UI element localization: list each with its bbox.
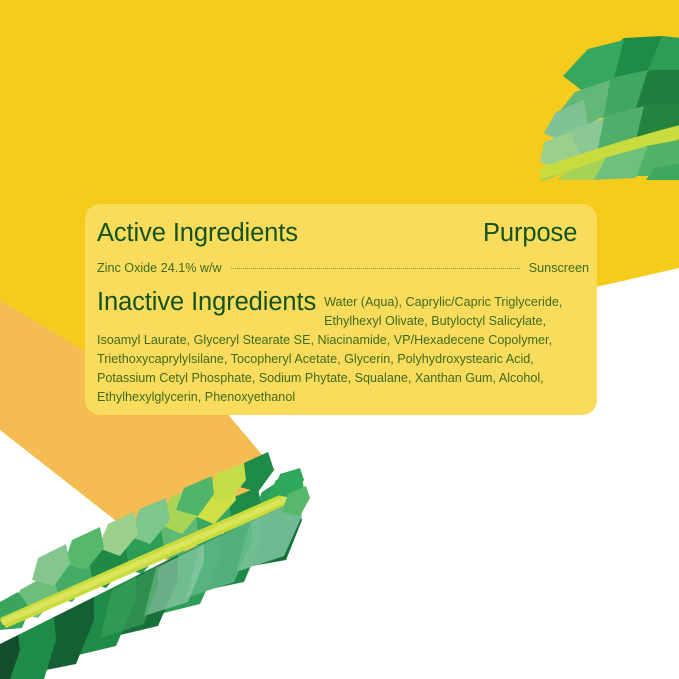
product-label-panel: Active Ingredients Purpose Zinc Oxide 24… xyxy=(0,0,679,679)
active-ingredient-name: Zinc Oxide 24.1% w/w xyxy=(97,260,222,276)
leaf-tr-midrib xyxy=(540,120,679,182)
active-ingredient-purpose: Sunscreen xyxy=(529,260,589,276)
inactive-ingredients-block: Inactive Ingredients Water (Aqua), Capry… xyxy=(97,288,592,408)
leaf-tr-upper-blade xyxy=(540,36,679,170)
leaf-bl-upper-blade xyxy=(0,452,304,630)
purpose-heading: Purpose xyxy=(483,218,577,248)
leaf-bl-midrib-highlight xyxy=(0,492,297,625)
leaf-tr-lower-blade xyxy=(540,136,679,182)
leaf-bl-midrib xyxy=(0,488,300,628)
column-headings-row: Active Ingredients Purpose xyxy=(97,218,589,254)
leaf-bl-tip-fronds xyxy=(272,468,310,516)
dotted-leader-line xyxy=(231,267,520,269)
leaf-top-right-group xyxy=(540,36,679,182)
inactive-ingredients-heading: Inactive Ingredients xyxy=(97,288,316,316)
leaf-bl-lower-blade xyxy=(0,498,302,679)
active-ingredient-row: Zinc Oxide 24.1% w/w Sunscreen xyxy=(97,260,589,278)
ingredient-card: Active Ingredients Purpose Zinc Oxide 24… xyxy=(85,204,597,415)
leaf-bl-group xyxy=(0,452,310,679)
active-ingredients-heading: Active Ingredients xyxy=(97,218,298,248)
